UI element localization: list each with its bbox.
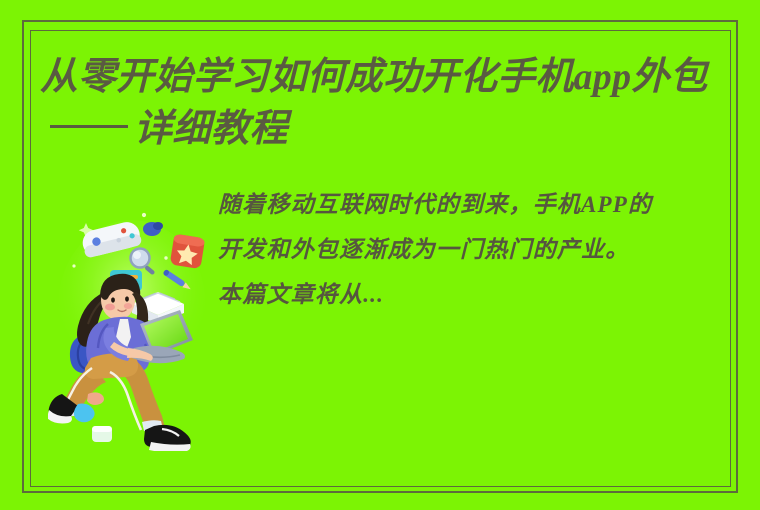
page-title-subtitle: 详细教程 xyxy=(134,108,288,150)
poster-canvas: 从零开始学习如何成功开化手机app外包 详细教程 随着移动互联网时代的到来，手机… xyxy=(0,0,760,510)
page-title-line-2: 详细教程 xyxy=(40,104,732,154)
shoes xyxy=(48,392,191,451)
floating-cube-icon xyxy=(92,426,112,442)
body-copy-line: 开发和外包逐渐成为一门热门的产业。 xyxy=(218,227,726,272)
body-copy-line: 本篇文章将从... xyxy=(218,272,726,317)
em-dash-rule-icon xyxy=(50,125,128,128)
body-copy-line: 随着移动互联网时代的到来，手机APP的 xyxy=(218,182,726,227)
walking-student-with-laptop-illustration xyxy=(48,196,228,451)
page-title-line-1: 从零开始学习如何成功开化手机app外包 xyxy=(40,52,725,102)
body-copy: 随着移动互联网时代的到来，手机APP的 开发和外包逐渐成为一门热门的产业。 本篇… xyxy=(218,182,726,317)
page-title: 从零开始学习如何成功开化手机app外包 详细教程 xyxy=(40,52,732,154)
app-card-star-icon xyxy=(170,234,205,269)
